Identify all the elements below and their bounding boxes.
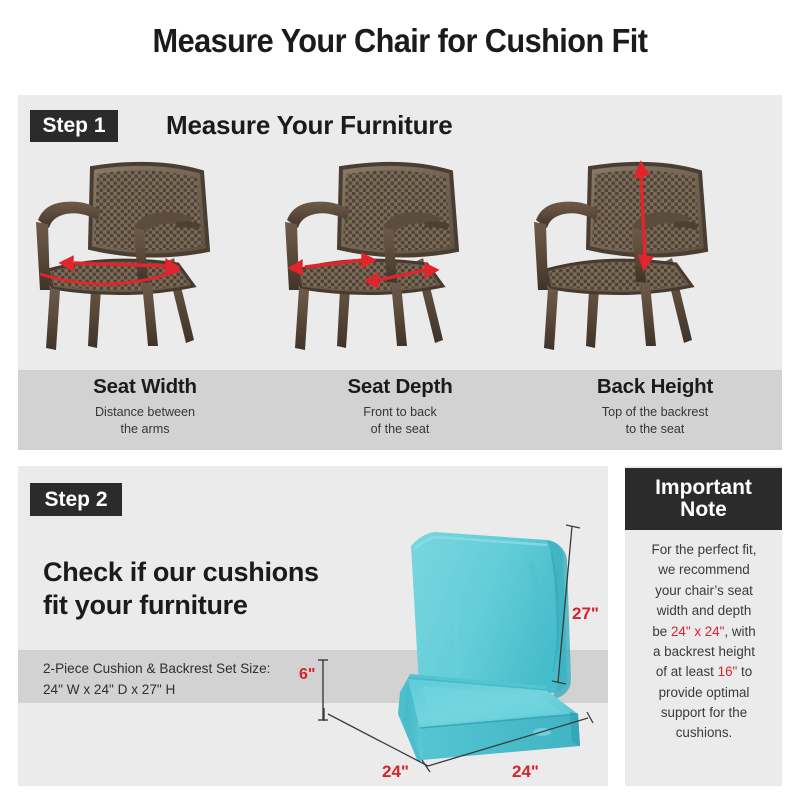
measure-subtitle-line1: Top of the backrest: [602, 405, 708, 419]
dimension-line-thickness: [316, 656, 330, 724]
note-highlight: 16": [718, 664, 738, 679]
measure-label-seat-width: Seat Width Distance between the arms: [18, 370, 272, 439]
measure-subtitle-line2: the arms: [121, 422, 170, 436]
step2-title-line1: Check if our cushions: [43, 557, 319, 587]
cushion-set-icon: [310, 500, 610, 786]
measure-label-seat-depth: Seat Depth Front to back of the seat: [273, 370, 527, 439]
chair-seat-width: [26, 150, 276, 365]
note-body-line: of at least 16" to: [633, 662, 775, 682]
step2-badge: Step 2: [30, 483, 122, 516]
measure-subtitle-line2: to the seat: [626, 422, 685, 436]
note-text: For the perfect fit,: [652, 542, 757, 557]
note-text: of at least: [656, 664, 718, 679]
chair-illustration-row: [18, 150, 782, 365]
dimension-label-thickness: 6": [299, 666, 315, 684]
measure-subtitle: Front to back of the seat: [273, 404, 527, 439]
note-body-line: provide optimal: [633, 683, 775, 703]
note-text: be: [652, 624, 671, 639]
chair-back-height: [524, 150, 774, 365]
measure-subtitle-line1: Front to back: [363, 405, 437, 419]
step2-title-line2: fit your furniture: [43, 590, 248, 620]
chair-icon-back-height: [524, 150, 774, 365]
note-text: support for the: [661, 705, 747, 720]
note-text: width and depth: [657, 603, 752, 618]
chair-icon-seat-width: [26, 150, 276, 365]
note-body-line: we recommend: [633, 560, 775, 580]
measure-subtitle-line2: of the seat: [371, 422, 430, 436]
chair-seat-depth: [275, 150, 525, 365]
note-text: cushions.: [676, 725, 733, 740]
important-note-header: Important Note: [625, 468, 782, 530]
note-text: to: [737, 664, 752, 679]
note-text: , with: [724, 624, 755, 639]
measure-title: Seat Depth: [273, 375, 527, 399]
note-text: your chair’s seat: [655, 583, 753, 598]
spec-line2: 24" W x 24" D x 27" H: [43, 682, 175, 697]
note-text: a backrest height: [653, 644, 755, 659]
note-body-line: For the perfect fit,: [633, 540, 775, 560]
important-note-body: For the perfect fit,we recommendyour cha…: [633, 540, 775, 744]
measure-title: Seat Width: [18, 375, 272, 399]
dimension-label-depth: 24": [512, 762, 539, 782]
note-highlight: 24" x 24": [671, 624, 724, 639]
measure-subtitle-line1: Distance between: [95, 405, 195, 419]
measure-label-back-height: Back Height Top of the backrest to the s…: [528, 370, 782, 439]
note-body-line: be 24" x 24", with: [633, 622, 775, 642]
chair-icon-seat-depth: [275, 150, 525, 365]
note-body-line: cushions.: [633, 723, 775, 743]
note-text: provide optimal: [659, 685, 750, 700]
note-body-line: width and depth: [633, 601, 775, 621]
step1-badge: Step 1: [30, 110, 118, 142]
measure-subtitle: Distance between the arms: [18, 404, 272, 439]
spec-line1: 2-Piece Cushion & Backrest Set Size:: [43, 661, 270, 676]
note-text: we recommend: [658, 562, 750, 577]
cushion-illustration: [310, 500, 610, 786]
note-body-line: support for the: [633, 703, 775, 723]
dimension-label-back-height: 27": [572, 604, 599, 624]
measure-title: Back Height: [528, 375, 782, 399]
dimension-label-width: 24": [382, 762, 409, 782]
measure-subtitle: Top of the backrest to the seat: [528, 404, 782, 439]
measure-label-band: Seat Width Distance between the arms Sea…: [18, 370, 782, 450]
note-body-line: a backrest height: [633, 642, 775, 662]
note-header-line1: Important: [655, 477, 752, 499]
step1-heading: Measure Your Furniture: [166, 110, 452, 141]
note-body-line: your chair’s seat: [633, 581, 775, 601]
note-header-line2: Note: [680, 499, 727, 521]
page-title: Measure Your Chair for Cushion Fit: [28, 22, 772, 60]
